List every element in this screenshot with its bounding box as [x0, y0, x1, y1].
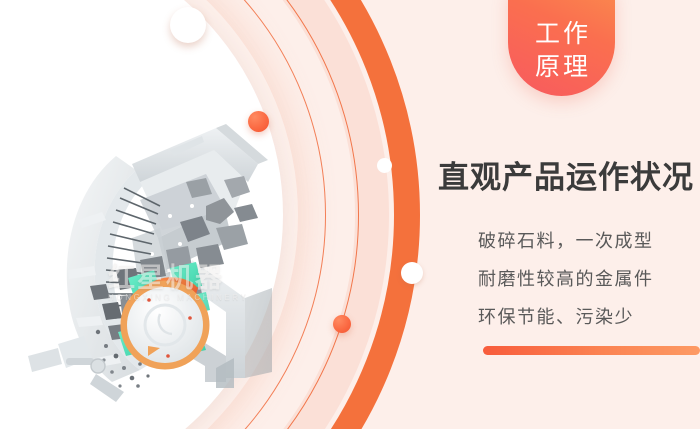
badge-line-1: 工作 — [532, 18, 591, 51]
feature-item: 环保节能、污染少 — [478, 298, 654, 336]
rotor-disc — [124, 284, 206, 366]
decor-dot-white-small — [377, 158, 392, 173]
feature-list: 破碎石料，一次成型 耐磨性较高的金属件 环保节能、污染少 — [478, 222, 654, 336]
feature-item: 耐磨性较高的金属件 — [478, 260, 654, 298]
page-title: 直观产品运作状况 — [438, 152, 694, 197]
decor-dot-white-medium — [401, 262, 423, 284]
accent-bar — [483, 346, 700, 355]
decor-dot-white-large — [170, 7, 206, 43]
decor-dot-orange-lower — [333, 315, 351, 333]
section-badge: 工作 原理 — [508, 0, 615, 96]
crusher-machine-illustration — [20, 120, 320, 410]
feature-item: 破碎石料，一次成型 — [478, 222, 654, 260]
badge-line-2: 原理 — [532, 51, 591, 84]
decor-dot-orange-upper — [248, 111, 269, 132]
banner-root: 红星机器 HONGXING MACHINERY 工作 原理 直观产品运作状况 破… — [0, 0, 700, 429]
